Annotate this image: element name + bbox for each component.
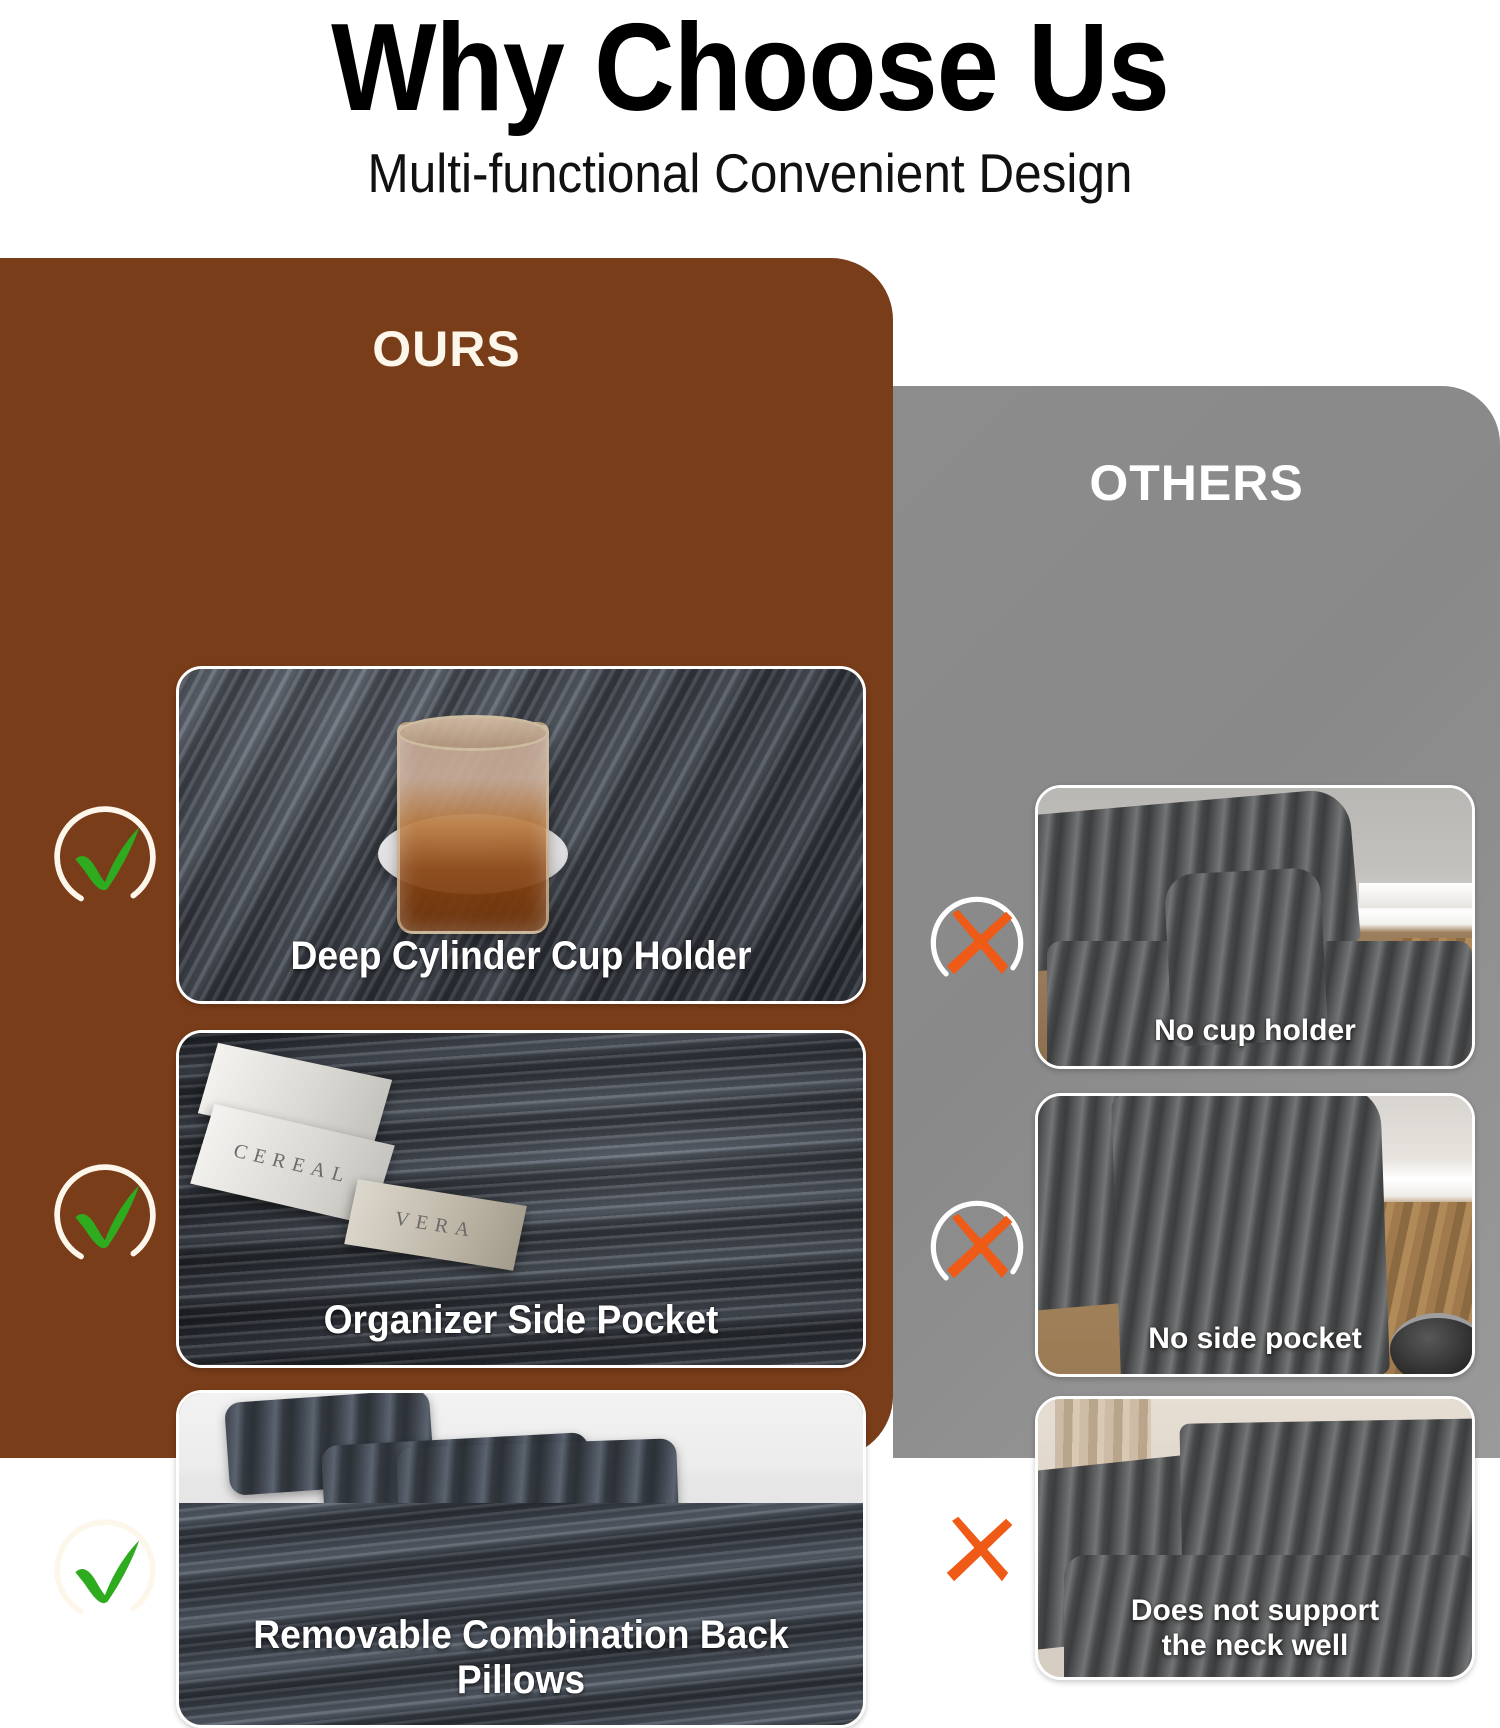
page-subtitle: Multi-functional Convenient Design	[75, 146, 1425, 201]
comparison-panels: OURS OTHERS	[0, 258, 1500, 1458]
ours-feature-card[interactable]: Removable Combination Back Pillows	[176, 1390, 866, 1728]
cross-mark-icon	[925, 1498, 1029, 1602]
ours-column-label: OURS	[0, 320, 893, 378]
no-neck-support-photo	[1038, 1399, 1472, 1677]
cross-mark-icon	[925, 891, 1029, 995]
others-feature-card[interactable]: No cup holder	[1035, 785, 1475, 1069]
check-mark-icon	[48, 1513, 162, 1627]
check-mark-icon	[48, 1158, 162, 1272]
cross-mark-icon	[925, 1195, 1029, 1299]
check-mark-icon	[48, 800, 162, 914]
back-pillows-photo	[179, 1393, 863, 1725]
page-header: Why Choose Us Multi-functional Convenien…	[0, 0, 1500, 258]
others-column-label: OTHERS	[893, 454, 1500, 512]
others-feature-card[interactable]: No side pocket	[1035, 1093, 1475, 1377]
page-title: Why Choose Us	[75, 0, 1425, 130]
ours-feature-card[interactable]: Deep Cylinder Cup Holder	[176, 666, 866, 1004]
ours-feature-card[interactable]: CEREAL VERA Organizer Side Pocket	[176, 1030, 866, 1368]
side-pocket-photo: CEREAL VERA	[179, 1033, 863, 1365]
cup-holder-photo	[179, 669, 863, 1001]
others-feature-card[interactable]: Does not support the neck well	[1035, 1396, 1475, 1680]
no-side-pocket-photo	[1038, 1096, 1472, 1374]
no-cup-holder-photo	[1038, 788, 1472, 1066]
